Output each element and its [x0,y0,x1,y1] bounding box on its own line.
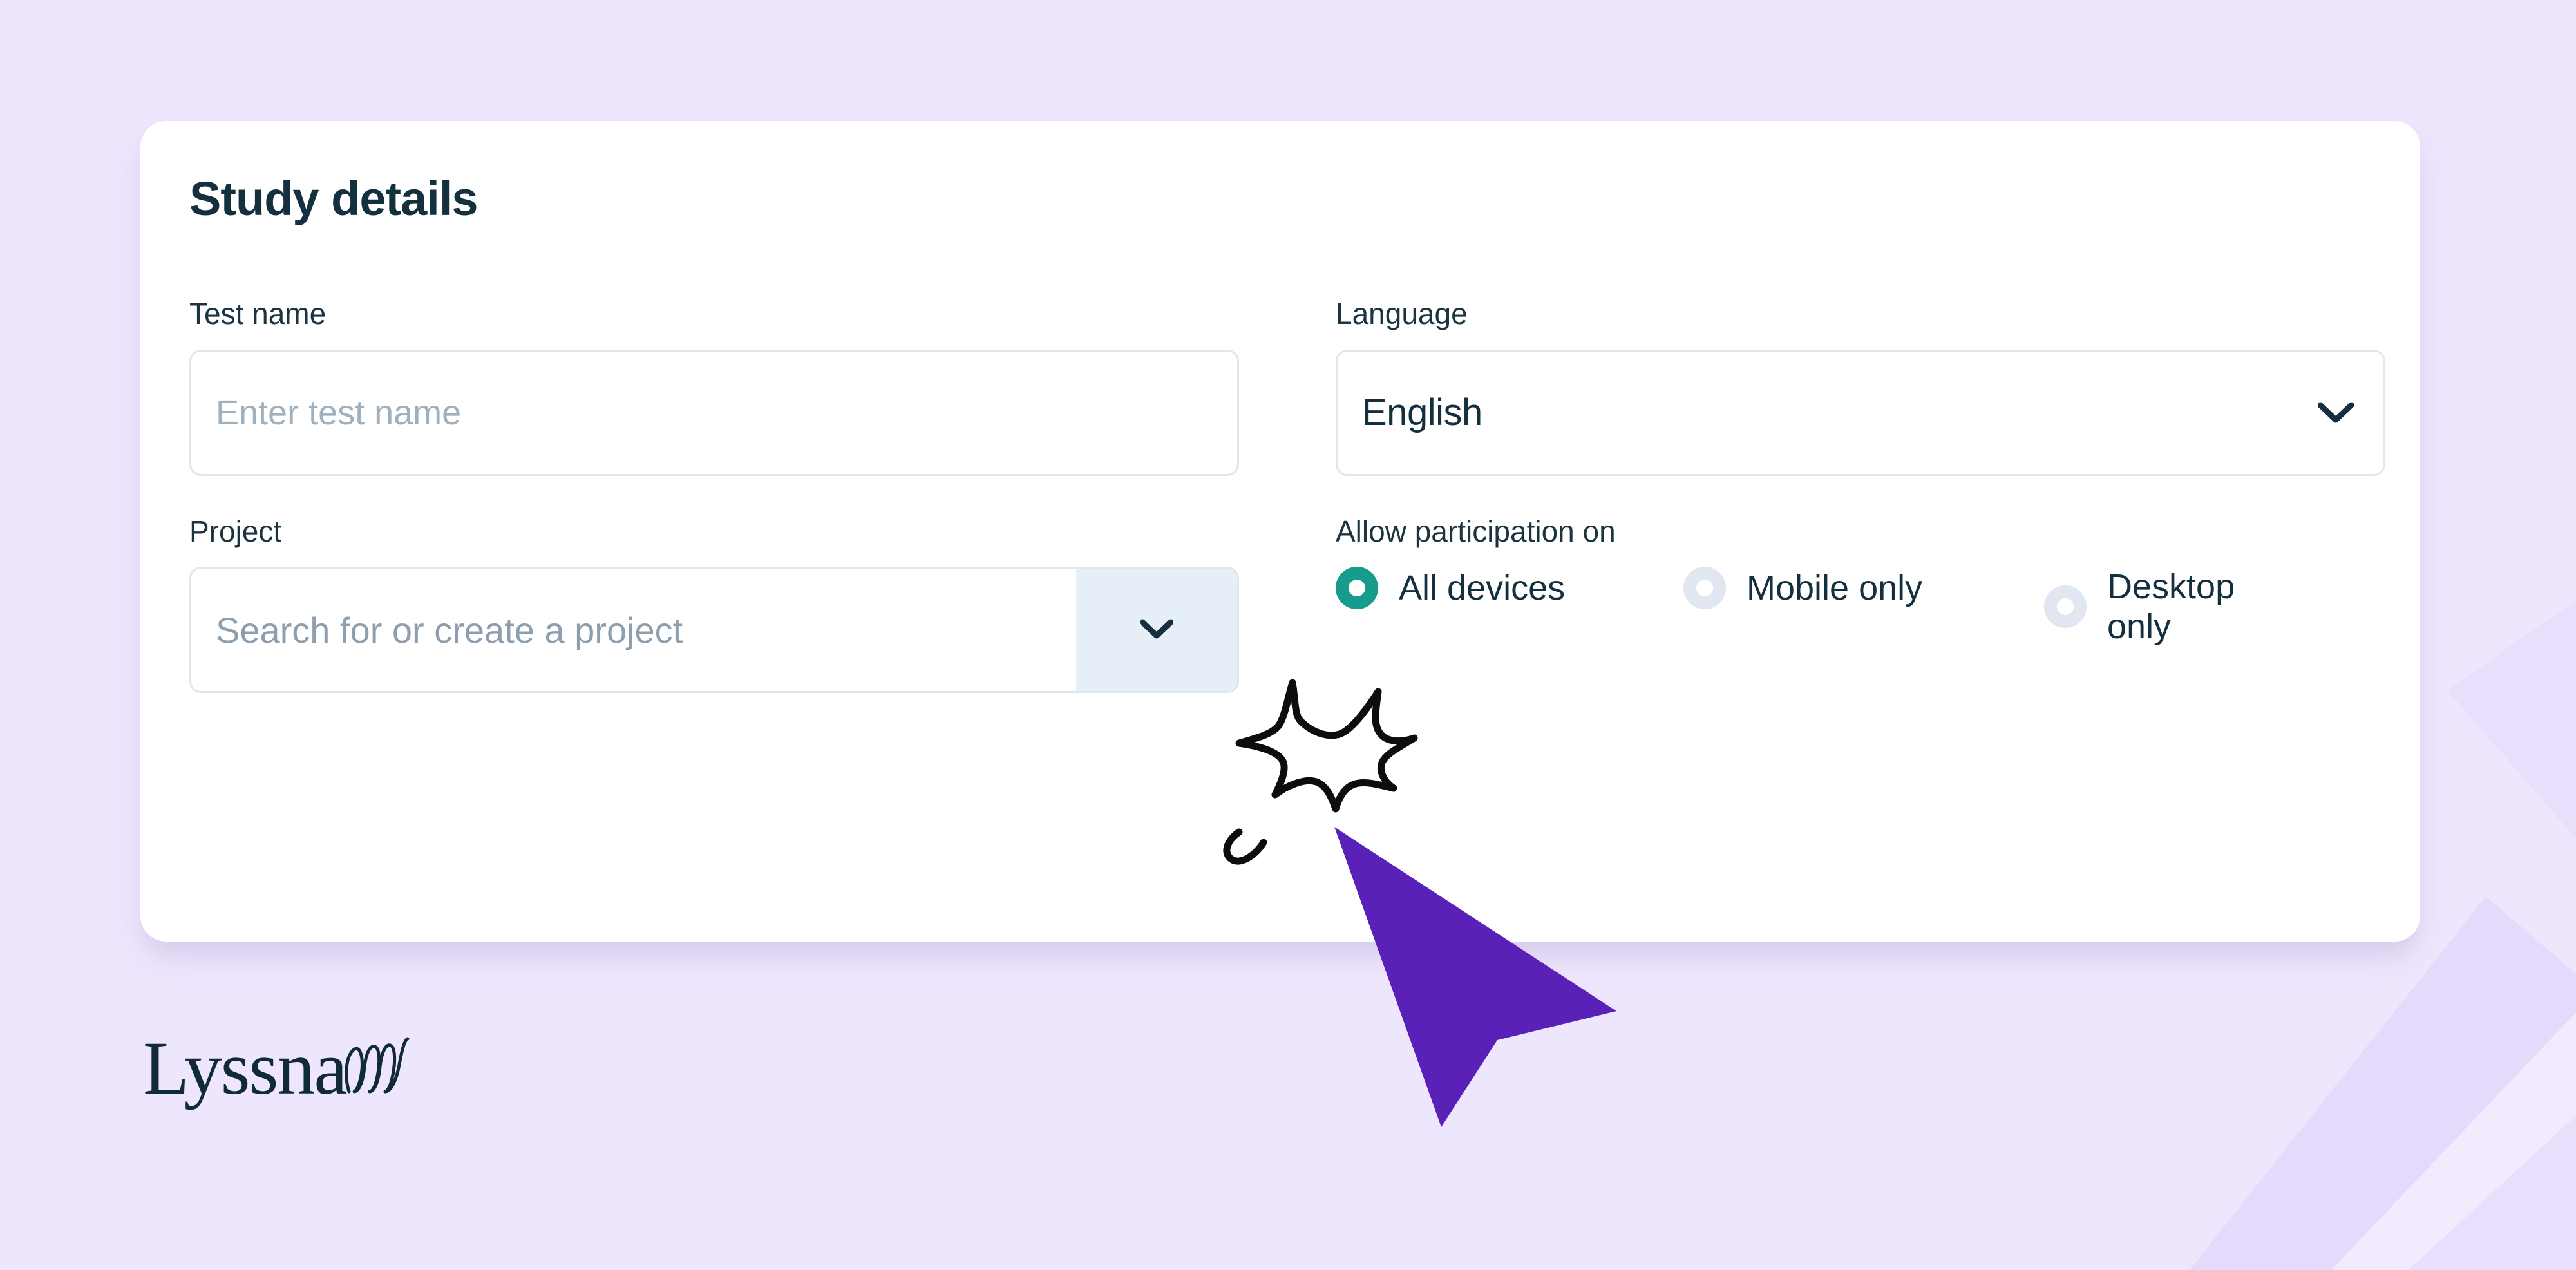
field-project: Project [189,513,1265,694]
language-select[interactable]: English [1336,350,2385,476]
radio-option-mobile-only[interactable]: Mobile only [1683,567,2044,609]
field-language: Language English [1336,296,2411,476]
radio-option-all-devices[interactable]: All devices [1336,567,1683,609]
field-participation: Allow participation on All devices Mobil… [1336,513,2411,694]
chevron-down-icon [2318,402,2354,424]
language-selected-value: English [1362,391,1482,434]
radio-indicator-checked[interactable] [1336,567,1378,609]
radio-indicator-unchecked[interactable] [2044,585,2087,628]
project-combobox [189,567,1239,693]
radio-option-desktop-only[interactable]: Desktop only [2044,567,2307,647]
field-test-name: Test name [189,296,1265,476]
radio-label-all-devices: All devices [1399,568,1565,608]
language-label: Language [1336,296,2411,333]
project-dropdown-button[interactable] [1076,569,1237,691]
logo-squiggle-icon [343,1035,412,1097]
test-name-input[interactable] [189,350,1239,476]
project-search-input[interactable] [191,569,1076,691]
radio-indicator-unchecked[interactable] [1683,567,1726,609]
radio-label-mobile-only: Mobile only [1747,568,1922,608]
page-title: Study details [189,173,2371,225]
project-label: Project [189,513,1265,551]
logo-wordmark: Lyssna [143,1030,346,1106]
lyssna-logo: Lyssna [143,1030,412,1106]
study-details-form: Test name Language English Project [189,296,2371,693]
test-name-label: Test name [189,296,1265,333]
radio-label-desktop-only: Desktop only [2107,567,2307,647]
study-details-card: Study details Test name Language English… [140,121,2420,942]
chevron-down-icon [1140,619,1173,641]
participation-label: Allow participation on [1336,513,2411,551]
participation-radio-group: All devices Mobile only Desktop only [1336,567,2411,647]
